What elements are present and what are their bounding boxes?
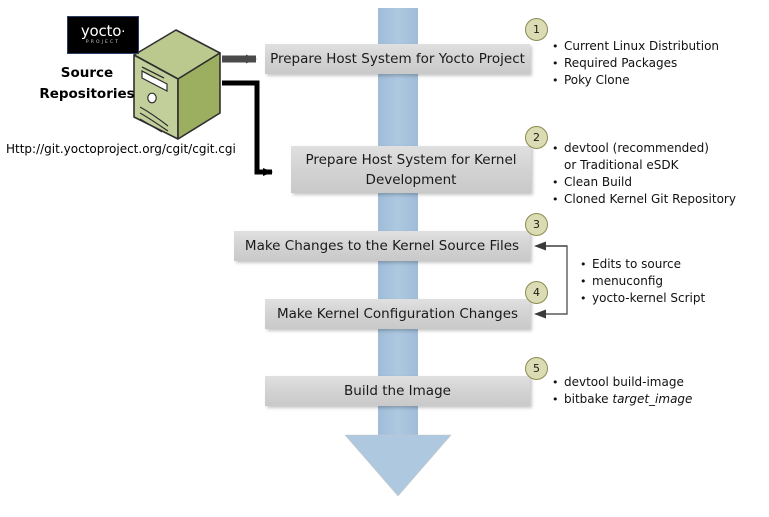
process-box-step2-line2: Development bbox=[366, 172, 457, 188]
step-number-badge-3: 3 bbox=[525, 213, 548, 236]
list-item: devtool build-image bbox=[552, 374, 692, 391]
logo-subtext: PROJECT bbox=[86, 41, 120, 46]
list-item: Poky Clone bbox=[552, 72, 719, 89]
source-label-line2: Repositories bbox=[26, 84, 148, 105]
list-item: Clean Build bbox=[552, 174, 736, 191]
process-box-step5-label: Build the Image bbox=[344, 381, 451, 401]
step-number-badge-4: 4 bbox=[525, 281, 548, 304]
list-item: Required Packages bbox=[552, 55, 719, 72]
process-box-step1[interactable]: Prepare Host System for Yocto Project bbox=[265, 44, 530, 74]
process-box-step4[interactable]: Make Kernel Configuration Changes bbox=[265, 299, 530, 329]
source-repositories-label: Source Repositories bbox=[26, 63, 148, 105]
logo-wordmark: yocto· bbox=[81, 24, 125, 39]
list-item: Edits to source bbox=[580, 256, 705, 273]
process-box-step3[interactable]: Make Changes to the Kernel Source Files bbox=[234, 231, 530, 261]
bullet-list-step5: devtool build-image bitbake target_image bbox=[552, 374, 692, 408]
process-box-step2-line1: Prepare Host System for Kernel bbox=[305, 152, 516, 168]
process-box-step3-label: Make Changes to the Kernel Source Files bbox=[245, 236, 519, 256]
bullet-list-steps-3-and-4: Edits to source menuconfig yocto-kernel … bbox=[580, 256, 705, 307]
step-number-badge-2: 2 bbox=[525, 126, 548, 149]
list-item: bitbake target_image bbox=[552, 391, 692, 408]
step-number-badge-5: 5 bbox=[525, 357, 548, 380]
list-item: menuconfig bbox=[580, 273, 705, 290]
bullet-list-step2: devtool (recommended) or Traditional eSD… bbox=[552, 140, 736, 208]
yocto-project-logo: yocto· PROJECT bbox=[67, 16, 139, 54]
process-box-step5[interactable]: Build the Image bbox=[265, 376, 530, 406]
diagram-canvas: yocto· PROJECT Source Repositories Http:… bbox=[0, 0, 769, 517]
bullet-list-step1: Current Linux Distribution Required Pack… bbox=[552, 38, 719, 89]
process-box-step1-label: Prepare Host System for Yocto Project bbox=[270, 49, 525, 69]
list-item: yocto-kernel Script bbox=[580, 290, 705, 307]
connector-shared-bullets-bracket bbox=[534, 242, 567, 319]
bitbake-target-image: target_image bbox=[612, 392, 692, 406]
list-item: Current Linux Distribution bbox=[552, 38, 719, 55]
list-item: devtool (recommended) or Traditional eSD… bbox=[552, 140, 724, 174]
list-item: Cloned Kernel Git Repository bbox=[552, 191, 736, 208]
process-box-step2-label: Prepare Host System for Kernel Developme… bbox=[305, 150, 516, 190]
source-repository-url: Http://git.yoctoproject.org/cgit/cgit.cg… bbox=[6, 142, 236, 156]
process-box-step4-label: Make Kernel Configuration Changes bbox=[277, 304, 518, 324]
step-number-badge-1: 1 bbox=[525, 18, 548, 41]
source-label-line1: Source bbox=[26, 63, 148, 84]
bitbake-prefix: bitbake bbox=[564, 392, 612, 406]
process-box-step2[interactable]: Prepare Host System for Kernel Developme… bbox=[291, 146, 531, 193]
connector-source-to-step2 bbox=[222, 83, 272, 172]
